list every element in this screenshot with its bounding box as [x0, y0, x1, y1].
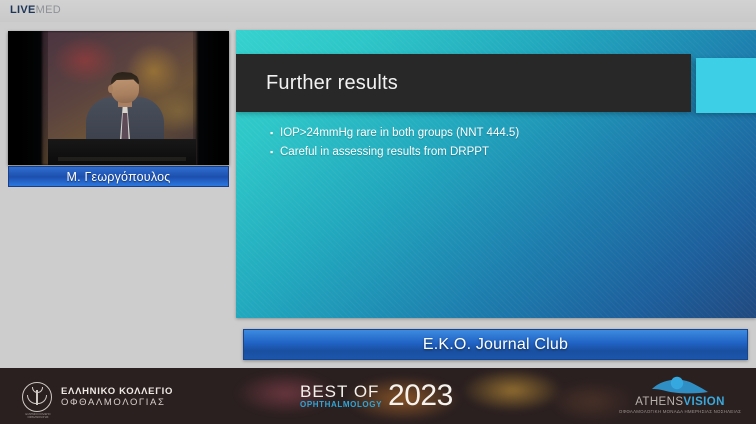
- session-title-label: E.K.O. Journal Club: [423, 336, 568, 354]
- slide-title-band: Further results: [236, 54, 691, 112]
- emblem-cup: [32, 387, 43, 393]
- athens-vision-part1: ATHENS: [635, 396, 683, 408]
- speaker-name-bar: Μ. Γεωργόπουλος: [8, 166, 229, 187]
- speaker-figure: [86, 75, 164, 147]
- eko-logo-line2: ΟΦΘΑΛΜΟΛΟΓΙΑΣ: [61, 397, 173, 408]
- slide-accent-box: [696, 58, 756, 113]
- emblem-wing: [27, 395, 47, 404]
- best-of-line1: BEST OF: [300, 383, 382, 400]
- eko-logo-text: ΕΛΛΗΝΙΚΟ ΚΟΛΛΕΓΙΟ ΟΦΘΑΛΜΟΛΟΓΙΑΣ: [61, 386, 173, 408]
- bullet-text: IOP>24mmHg rare in both groups (NNT 444.…: [280, 124, 519, 143]
- slide-title: Further results: [266, 72, 398, 95]
- bullet-text: Careful in assessing results from DRPPT: [280, 143, 489, 162]
- emblem-caption: ΕΛΛΗΝΙΚΟ ΚΟΛΛΕΓΙΟ ΟΦΘΑΛΜΟΛΟΓΙΑΣ: [21, 413, 55, 419]
- speaker-ear: [108, 85, 113, 93]
- bullet-marker-icon: ▪: [270, 124, 280, 143]
- list-item: ▪ IOP>24mmHg rare in both groups (NNT 44…: [270, 124, 690, 143]
- video-vignette-right: [193, 31, 229, 165]
- speaker-video-panel[interactable]: [8, 31, 229, 165]
- podium: [48, 139, 196, 165]
- video-vignette-left: [8, 31, 48, 165]
- video-frame: [8, 31, 229, 165]
- eko-logo: ΕΛΛΗΝΙΚΟ ΚΟΛΛΕΓΙΟ ΟΦΘΑΛΜΟΛΟΓΙΑΣ ΕΛΛΗΝΙΚΟ…: [22, 382, 173, 412]
- presentation-slide[interactable]: Further results ▪ IOP>24mmHg rare in bot…: [236, 30, 756, 318]
- speaker-name-label: Μ. Γεωργόπουλος: [67, 170, 171, 184]
- eko-logo-line1: ΕΛΛΗΝΙΚΟ ΚΟΛΛΕΓΙΟ: [61, 386, 173, 397]
- athens-vision-logo: ATHENSVISION ΟΦΘΑΛΜΟΛΟΓΙΚΗ ΜΟΝΑΔΑ ΗΜΕΡΗΣ…: [612, 376, 748, 415]
- livemed-logo-live: LIVE: [10, 4, 36, 16]
- athens-vision-part2: VISION: [683, 396, 724, 408]
- top-bar: LIVEMED: [0, 0, 756, 22]
- best-of-text: BEST OF OPHTHALMOLOGY: [300, 381, 382, 410]
- athens-vision-name: ATHENSVISION: [612, 396, 748, 409]
- athens-vision-subtitle: ΟΦΘΑΛΜΟΛΟΓΙΚΗ ΜΟΝΑΔΑ ΗΜΕΡΗΣΙΑΣ ΝΟΣΗΛΕΙΑΣ: [612, 409, 748, 415]
- session-title-bar: E.K.O. Journal Club: [243, 329, 748, 360]
- livemed-logo-med: MED: [36, 4, 61, 16]
- best-of-ophthalmology-logo: BEST OF OPHTHALMOLOGY 2023: [300, 381, 453, 411]
- bullet-marker-icon: ▪: [270, 143, 280, 162]
- livemed-logo[interactable]: LIVEMED: [10, 4, 61, 16]
- best-of-year: 2023: [388, 381, 453, 411]
- slide-bullet-list: ▪ IOP>24mmHg rare in both groups (NNT 44…: [270, 124, 690, 162]
- list-item: ▪ Careful in assessing results from DRPP…: [270, 143, 690, 162]
- best-of-line2: OPHTHALMOLOGY: [300, 400, 382, 410]
- caduceus-emblem-icon: ΕΛΛΗΝΙΚΟ ΚΟΛΛΕΓΙΟ ΟΦΘΑΛΜΟΛΟΓΙΑΣ: [22, 382, 52, 412]
- eye-swoosh-icon: [612, 376, 748, 396]
- broadcast-player: LIVEMED Μ. Γεωργόπουλος: [0, 0, 756, 424]
